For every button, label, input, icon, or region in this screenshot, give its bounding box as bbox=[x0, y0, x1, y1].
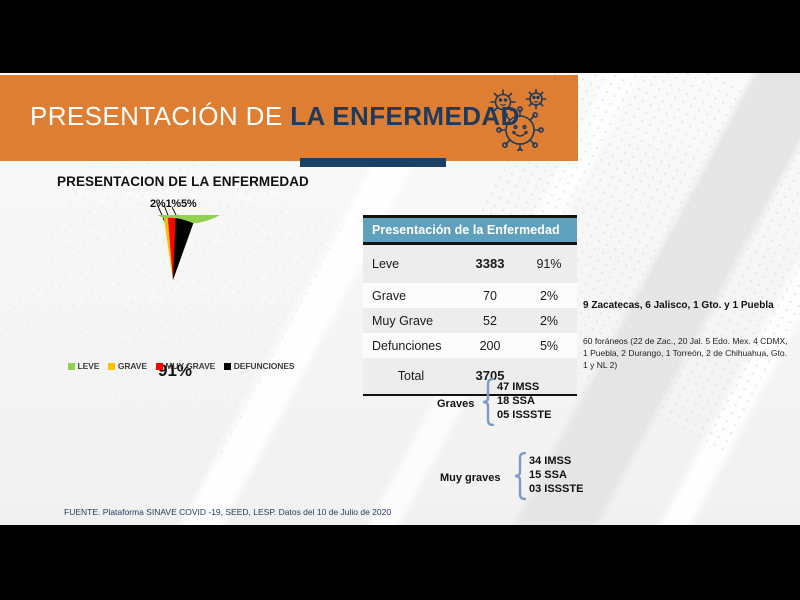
table-cell-count: 70 bbox=[459, 289, 521, 303]
legend-label-defunciones: DEFUNCIONES bbox=[234, 361, 295, 371]
legend-swatch-defunciones bbox=[224, 363, 231, 370]
bracket-label-muy-graves: Muy graves bbox=[440, 472, 501, 484]
legend-swatch-muy-grave bbox=[156, 363, 163, 370]
letterbox-top bbox=[0, 0, 800, 73]
coronavirus-icon bbox=[484, 89, 558, 156]
bracket-values-graves: 47 IMSS 18 SSA 05 ISSSTE bbox=[497, 380, 551, 422]
header-banner: PRESENTACIÓN DE LA ENFERMEDAD bbox=[0, 75, 578, 161]
bracket-shape-graves bbox=[480, 378, 496, 429]
table-cell-pct: 2% bbox=[521, 314, 577, 328]
table-row: Grave 70 2% bbox=[363, 283, 577, 308]
bracket-value: 18 SSA bbox=[497, 394, 551, 408]
table-cell-count: 52 bbox=[459, 314, 521, 328]
chart-title: PRESENTACION DE LA ENFERMEDAD bbox=[57, 174, 309, 189]
table-cell-count: 200 bbox=[459, 339, 521, 353]
pie-chart bbox=[108, 215, 238, 345]
table-cell-count: 3383 bbox=[459, 257, 521, 270]
source-footnote: FUENTE. Plataforma SINAVE COVID -19, SEE… bbox=[64, 507, 391, 517]
bracket-label-graves: Graves bbox=[437, 398, 474, 410]
pie-outer-labels: 2%1%5% bbox=[150, 198, 197, 210]
page-title-light: PRESENTACIÓN DE bbox=[30, 101, 290, 131]
table-cell-name: Leve bbox=[363, 257, 459, 271]
table-cell-pct: 2% bbox=[521, 289, 577, 303]
bracket-values-muy-graves: 34 IMSS 15 SSA 03 ISSSTE bbox=[529, 454, 583, 496]
table-header: Presentación de la Enfermedad bbox=[363, 218, 577, 242]
bracket-value: 34 IMSS bbox=[529, 454, 583, 468]
table-cell-name: Defunciones bbox=[363, 339, 459, 353]
note-headline: 9 Zacatecas, 6 Jalisco, 1 Gto. y 1 Puebl… bbox=[583, 300, 788, 313]
bracket-value: 47 IMSS bbox=[497, 380, 551, 394]
legend-item-grave: GRAVE bbox=[108, 361, 147, 371]
table-cell-name: Grave bbox=[363, 289, 459, 303]
legend-swatch-grave bbox=[108, 363, 115, 370]
table-cell-name: Muy Grave bbox=[363, 314, 459, 328]
bracket-value: 05 ISSSTE bbox=[497, 408, 551, 422]
slide-stage: PRESENTACIÓN DE LA ENFERMEDAD bbox=[0, 0, 800, 600]
letterbox-bottom bbox=[0, 525, 800, 600]
legend-label-grave: GRAVE bbox=[118, 361, 147, 371]
table-row: Defunciones 200 5% bbox=[363, 333, 577, 358]
disease-presentation-table: Presentación de la Enfermedad Leve 3383 … bbox=[363, 215, 577, 396]
table-cell-pct: 91% bbox=[521, 257, 577, 271]
table-row: Leve 3383 91% bbox=[363, 245, 577, 283]
legend-item-defunciones: DEFUNCIONES bbox=[224, 361, 294, 371]
legend-label-leve: LEVE bbox=[78, 361, 100, 371]
legend-item-leve: LEVE bbox=[68, 361, 99, 371]
legend-swatch-leve bbox=[68, 363, 75, 370]
legend-label-muy-grave: MUY GRAVE bbox=[165, 361, 215, 371]
table-cell-total-label: Total bbox=[363, 369, 459, 383]
table-row: Muy Grave 52 2% bbox=[363, 308, 577, 333]
note-detail: 60 foráneos (22 de Zac., 20 Jal. 5 Edo. … bbox=[583, 335, 793, 371]
page-title: PRESENTACIÓN DE LA ENFERMEDAD bbox=[30, 101, 520, 132]
title-accent-bar bbox=[300, 158, 446, 167]
bracket-value: 03 ISSSTE bbox=[529, 482, 583, 496]
legend-item-muy-grave: MUY GRAVE bbox=[156, 361, 215, 371]
bracket-value: 15 SSA bbox=[529, 468, 583, 482]
bracket-shape-muy-graves bbox=[512, 452, 528, 503]
slide-canvas: PRESENTACIÓN DE LA ENFERMEDAD bbox=[0, 73, 800, 525]
pie-legend: LEVE GRAVE MUY GRAVE DEFUNCIONES bbox=[68, 361, 298, 371]
table-cell-pct: 5% bbox=[521, 339, 577, 353]
